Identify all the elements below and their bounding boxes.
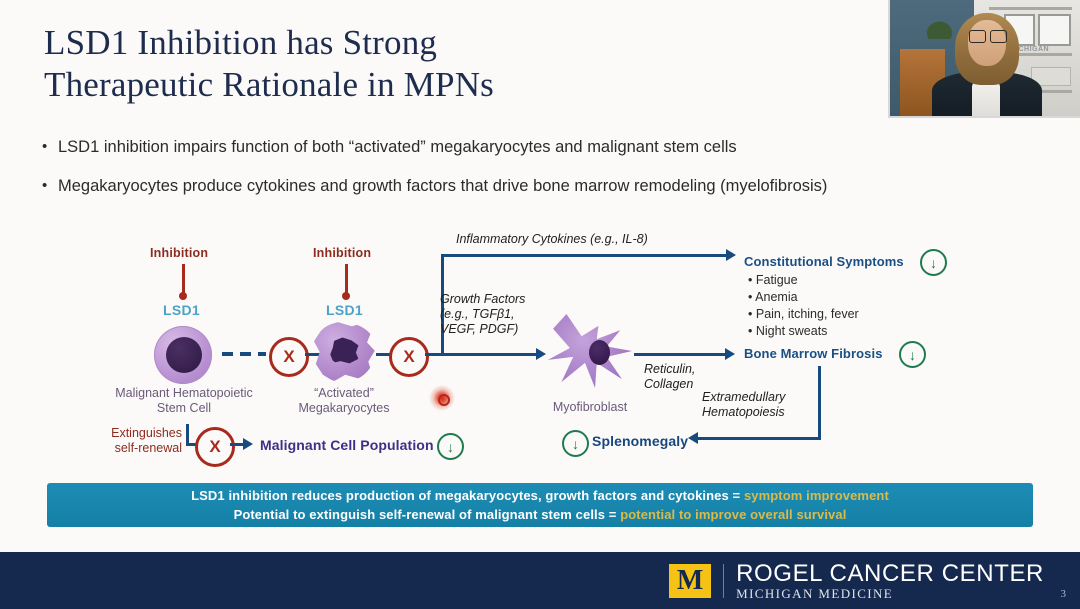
org-line-1: ROGEL CANCER CENTER [736,561,1044,586]
connector-line-3 [230,443,244,446]
fibrosis-line [634,353,726,356]
arrow-head-fibrosis [725,348,735,360]
x-block-icon-3: X [195,427,235,467]
x-block-icon-1: X [269,337,309,377]
bullet-text: Megakaryocytes produce cytokines and gro… [58,175,1042,197]
symptom-item: • Pain, itching, fever [748,306,859,323]
myofibroblast-caption: Myofibroblast [540,400,640,415]
webcam-video-inset[interactable]: MICHIGAN [888,0,1080,118]
banner-line-1-text: LSD1 inhibition reduces production of me… [191,488,744,503]
connector-line-2 [376,353,390,356]
x-block-icon-2: X [389,337,429,377]
constitutional-symptoms-label: Constitutional Symptoms [744,254,904,269]
bullet-list: • LSD1 inhibition impairs function of bo… [42,136,1042,214]
title-line-1: LSD1 Inhibition has Strong [44,22,764,64]
symptom-item: • Fatigue [748,272,859,289]
bullet-item: • Megakaryocytes produce cytokines and g… [42,175,1042,197]
bullet-marker: • [42,136,58,158]
inhibition-stem-dot-1 [179,292,187,300]
reticulin-collagen-label: Reticulin, Collagen [644,362,695,392]
inhibition-stem-dot-2 [342,292,350,300]
cam-plant [924,19,954,40]
splenomegaly-label: Splenomegaly [592,433,688,449]
cam-glasses-left [969,30,986,42]
bullet-item: • LSD1 inhibition impairs function of bo… [42,136,1042,158]
activated-megakaryocyte-illustration [312,322,376,382]
lsd1-label-stemcell: LSD1 [163,302,200,318]
extramedullary-horizontal [698,437,821,440]
symptom-item: • Night sweats [748,323,859,340]
banner-line-1: LSD1 inhibition reduces production of me… [191,486,889,505]
inhibition-label-stemcell: Inhibition [150,246,208,260]
megakaryocyte-caption: “Activated” Megakaryocytes [273,386,415,416]
decrease-arrow-icon-fibrosis: ↓ [899,341,926,368]
slide-footer: M ROGEL CANCER CENTER MICHIGAN MEDICINE … [0,552,1080,609]
cam-glasses-right [990,30,1007,42]
bullet-text: LSD1 inhibition impairs function of both… [58,136,1042,158]
cytokine-branch-horizontal [441,254,727,257]
banner-line-2-highlight: potential to improve overall survival [620,507,846,522]
extramedullary-vertical [818,366,821,440]
cam-person-shirt [972,81,1001,118]
stem-cell-caption: Malignant Hematopoietic Stem Cell [104,386,264,416]
growth-factors-label: Growth Factors (e.g., TGFβ1, VEGF, PDGF) [440,292,525,337]
banner-line-2: Potential to extinguish self-renewal of … [234,505,847,524]
decrease-arrow-icon-symptoms: ↓ [920,249,947,276]
banner-line-2-text: Potential to extinguish self-renewal of … [234,507,621,522]
malignant-stem-cell-illustration [154,326,212,384]
page-title: LSD1 Inhibition has Strong Therapeutic R… [44,22,764,106]
bullet-marker: • [42,175,58,197]
pathway-diagram: Inhibition LSD1 Malignant Hematopoietic … [0,222,1080,477]
laser-pointer-dot [429,385,455,411]
extramedullary-hematopoiesis-label: Extramedullary Hematopoiesis [702,390,785,420]
organization-name: ROGEL CANCER CENTER MICHIGAN MEDICINE [736,561,1044,601]
decrease-arrow-icon-malignant-pop: ↓ [437,433,464,460]
growth-factor-line [441,353,539,356]
dashed-connector-1 [222,352,266,356]
michigan-m-logo-icon: M [669,564,711,598]
malignant-cell-population-label: Malignant Cell Population [260,437,434,453]
summary-banner: LSD1 inhibition reduces production of me… [47,483,1033,527]
arrow-head-malignant-pop [243,438,253,450]
arrow-head-cytokines [726,249,736,261]
cam-shelf-line [989,7,1073,10]
banner-line-1-highlight: symptom improvement [744,488,889,503]
symptoms-list: • Fatigue • Anemia • Pain, itching, feve… [748,272,859,340]
symptom-item: • Anemia [748,289,859,306]
myofibroblast-illustration [548,314,632,388]
bone-marrow-fibrosis-label: Bone Marrow Fibrosis [744,346,883,361]
presentation-slide: LSD1 Inhibition has Strong Therapeutic R… [0,0,1080,609]
cam-picture-frame [1038,14,1071,46]
cam-person-face [968,20,1006,66]
inhibition-label-megakaryocyte: Inhibition [313,246,371,260]
arrow-head-growthfactor [536,348,546,360]
rogel-logo: M ROGEL CANCER CENTER MICHIGAN MEDICINE [669,561,1044,601]
inflammatory-cytokines-label: Inflammatory Cytokines (e.g., IL-8) [456,232,648,247]
lsd1-label-megakaryocyte: LSD1 [326,302,363,318]
title-line-2: Therapeutic Rationale in MPNs [44,64,764,106]
logo-divider [723,564,724,598]
arrow-head-splenomegaly [688,432,698,444]
decrease-arrow-icon-splenomegaly: ↓ [562,430,589,457]
org-line-2: MICHIGAN MEDICINE [736,586,1044,601]
page-number: 3 [1061,588,1067,600]
extinguishes-self-renewal-label: Extinguishes self-renewal [96,426,182,456]
